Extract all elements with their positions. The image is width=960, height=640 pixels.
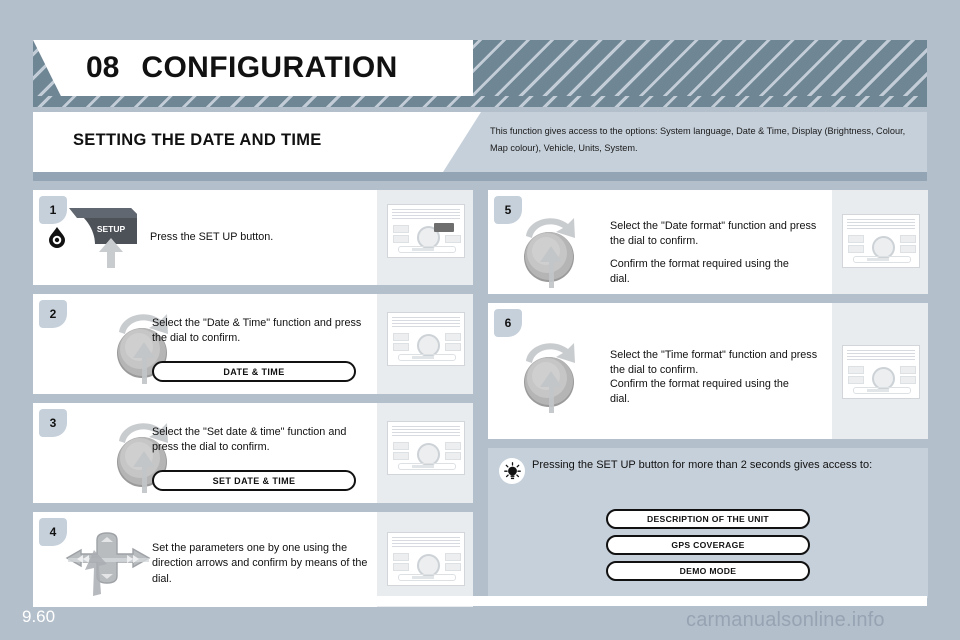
tip-text: Pressing the SET UP button for more than… (532, 458, 912, 474)
radio-thumbnail-cell (377, 190, 473, 285)
tip-button-list: DESCRIPTION OF THE UNIT GPS COVERAGE DEM… (606, 509, 810, 587)
section-description: This function gives access to the option… (490, 123, 924, 157)
setup-button[interactable]: SETUP (67, 204, 143, 275)
light-bulb-icon (499, 458, 525, 484)
step-text: Press the SET UP button. (150, 230, 360, 245)
radio-thumbnail-cell (377, 512, 473, 607)
step-text-secondary: Confirm the format required using the di… (610, 257, 810, 288)
rotate-dial-icon (518, 335, 584, 422)
section-band: SETTING THE DATE AND TIME This function … (33, 112, 927, 172)
radio-unit-thumbnail (387, 204, 465, 258)
step-number: 3 (39, 409, 67, 437)
tip-button-description[interactable]: DESCRIPTION OF THE UNIT (606, 509, 810, 529)
footer-white-strip (33, 596, 927, 606)
step-text: Select the "Date & Time" function and pr… (152, 316, 372, 347)
step-6: 6 Select the "Time format" function and … (488, 303, 928, 439)
radio-unit-thumbnail (842, 214, 920, 268)
radio-unit-thumbnail (387, 421, 465, 475)
band-separator (33, 172, 927, 181)
rotate-dial-icon (518, 210, 584, 297)
radio-thumbnail-cell (377, 403, 473, 503)
tip-button-gps-coverage[interactable]: GPS COVERAGE (606, 535, 810, 555)
step-text-primary: Select the "Date format" function and pr… (610, 219, 825, 250)
left-column: 1 SETUP Press the SET UP button. (33, 190, 473, 616)
menu-pill-date-time[interactable]: DATE & TIME (152, 361, 356, 382)
step-number: 2 (39, 300, 67, 328)
step-text-secondary: Confirm the format required using the di… (610, 377, 810, 408)
step-number: 6 (494, 309, 522, 337)
header-underbar-stripes (33, 96, 927, 107)
watermark: carmanualsonline.info (686, 609, 885, 632)
menu-pill-set-date-time[interactable]: SET DATE & TIME (152, 470, 356, 491)
step-number: 1 (39, 196, 67, 224)
radio-thumbnail-cell (832, 190, 928, 294)
chapter-header: 08 CONFIGURATION (33, 40, 927, 96)
radio-unit-thumbnail (387, 312, 465, 366)
radio-unit-thumbnail (842, 345, 920, 399)
tip-block: Pressing the SET UP button for more than… (488, 448, 928, 598)
press-point-icon (47, 226, 67, 255)
page-number: 9.60 (22, 607, 55, 627)
radio-setup-highlight (434, 223, 454, 232)
step-text-primary: Select the "Time format" function and pr… (610, 348, 825, 379)
step-4: 4 Set the parameters one by one using th… (33, 512, 473, 607)
step-text: Set the parameters one by one using the … (152, 541, 377, 587)
radio-thumbnail-cell (377, 294, 473, 394)
direction-arrows-icon (63, 528, 155, 605)
tip-button-demo-mode[interactable]: DEMO MODE (606, 561, 810, 581)
radio-unit-thumbnail (387, 532, 465, 586)
step-1: 1 SETUP Press the SET UP button. (33, 190, 473, 285)
chapter-number: 08 (86, 51, 119, 85)
right-column: 5 Select the "Date format" function and … (488, 190, 928, 598)
setup-button-label: SETUP (97, 224, 126, 234)
step-5: 5 Select the "Date format" function and … (488, 190, 928, 294)
section-title: SETTING THE DATE AND TIME (73, 131, 322, 150)
step-2: 2 Select the "Date & Time" function and … (33, 294, 473, 394)
step-text: Select the "Set date & time" function an… (152, 425, 372, 456)
chapter-title: CONFIGURATION (141, 51, 397, 85)
step-3: 3 Select the "Set date & time" function … (33, 403, 473, 503)
radio-thumbnail-cell (832, 303, 928, 439)
